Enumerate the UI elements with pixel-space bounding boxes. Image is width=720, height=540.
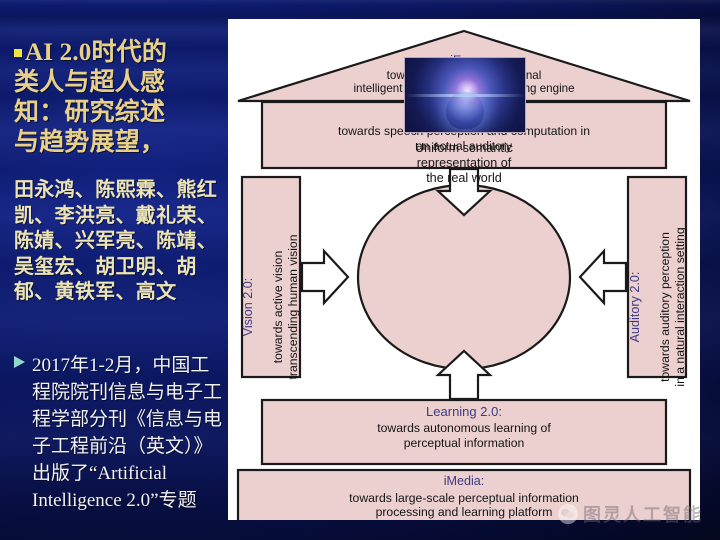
auditory-line-1: towards auditory perception <box>658 232 672 382</box>
box-learning <box>262 400 666 464</box>
diagram-panel: iEye: towards urban omnidirectional inte… <box>228 19 700 520</box>
vision-line-1: towards active vision <box>271 251 285 363</box>
arrow-bullet-icon <box>14 356 25 368</box>
body-bullet-text: 2017年1-2月，中国工程院院刊信息与电子工程学部分刊《信息与电子工程前沿（英… <box>32 352 226 514</box>
title-line-4: 与趋势展望， <box>14 128 219 158</box>
presentation-slide: AI 2.0时代的 类人与超人感 知：研究综述 与趋势展望， 田永鸿、陈熙霖、熊… <box>0 0 720 540</box>
vision-line-2: transcending human vision <box>286 235 300 380</box>
author-list: 田永鸿、陈熙霖、熊红凯、李洪亮、戴礼荣、陈婧、兴军亮、陈靖、吴玺宏、胡卫明、胡郁… <box>14 178 222 306</box>
watermark: 图灵人工智能 <box>558 501 703 527</box>
vision-heading: Vision 2.0: <box>241 207 256 407</box>
arrow-left-to-center <box>580 251 626 303</box>
title-line-1: AI 2.0时代的 <box>14 38 219 68</box>
title-line-3: 知：研究综述 <box>14 98 219 128</box>
watermark-text: 图灵人工智能 <box>583 501 703 527</box>
left-text-column: AI 2.0时代的 类人与超人感 知：研究综述 与趋势展望， 田永鸿、陈熙霖、熊… <box>0 0 228 540</box>
title-line-1-text: AI 2.0时代的 <box>25 39 167 66</box>
body-bullet-item: 2017年1-2月，中国工程院院刊信息与电子工程学部分刊《信息与电子工程前沿（英… <box>12 352 226 514</box>
center-line-3: the real world <box>426 171 502 185</box>
auditory-line-2: in a natural interaction setting <box>673 227 687 386</box>
center-caption: Uniform semantic representation of the r… <box>366 141 562 186</box>
square-bullet-icon <box>14 49 22 57</box>
auditory-label: Auditory 2.0: towards auditory perceptio… <box>628 207 688 407</box>
wechat-logo-icon <box>558 504 578 524</box>
arrow-right-to-center <box>302 251 348 303</box>
slide-title: AI 2.0时代的 类人与超人感 知：研究综述 与趋势展望， <box>14 38 219 158</box>
center-line-2: representation of <box>417 156 512 170</box>
title-line-2: 类人与超人感 <box>14 68 219 98</box>
auditory-heading: Auditory 2.0: <box>628 207 643 407</box>
cosmic-brain-image <box>404 57 526 133</box>
vision-label: Vision 2.0: towards active vision transc… <box>241 207 301 407</box>
center-line-1: Uniform semantic <box>415 141 513 155</box>
